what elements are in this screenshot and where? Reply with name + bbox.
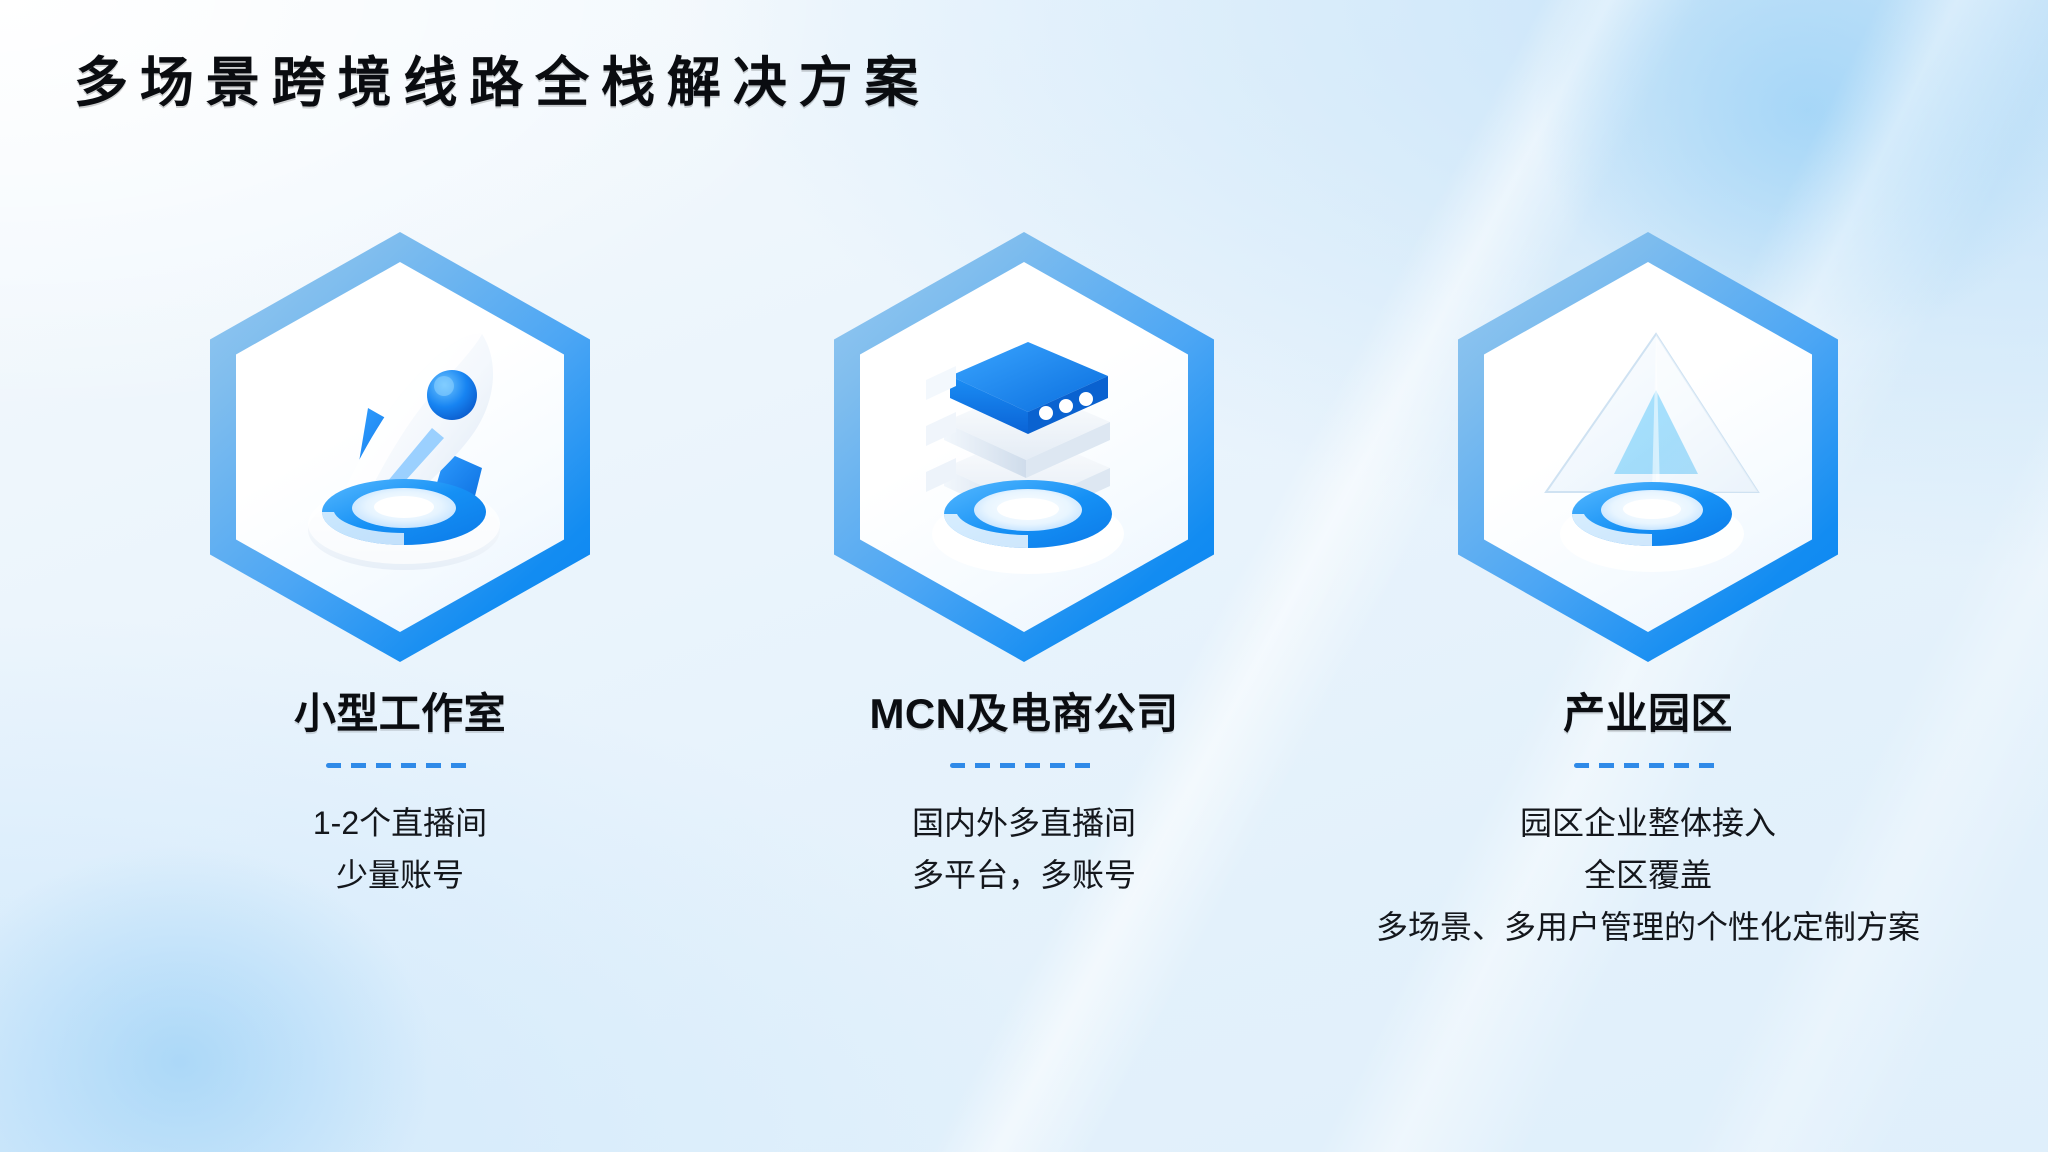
card-title: 产业园区 (1563, 680, 1733, 741)
card-body-line: 多场景、多用户管理的个性化定制方案 (1376, 902, 1920, 954)
rocket-illustration (236, 262, 564, 632)
card-body-line: 国内外多直播间 (912, 798, 1136, 850)
card-body-line: 少量账号 (313, 850, 487, 902)
card-industrial-park[interactable]: 产业园区 园区企业整体接入 全区覆盖 多场景、多用户管理的个性化定制方案 (1378, 232, 1918, 953)
server-stack-hexagon-icon (834, 232, 1214, 662)
card-title: 小型工作室 (294, 680, 506, 741)
rocket-hexagon-icon (210, 232, 590, 662)
card-divider (1574, 763, 1722, 768)
card-body-line: 园区企业整体接入 (1376, 798, 1920, 850)
pyramid-hexagon-icon (1458, 232, 1838, 662)
card-body: 国内外多直播间 多平台，多账号 (912, 798, 1136, 902)
card-body-line: 全区覆盖 (1376, 850, 1920, 902)
card-body-line: 多平台，多账号 (912, 850, 1136, 902)
card-row: 小型工作室 1-2个直播间 少量账号 (0, 232, 2048, 953)
page-title: 多场景跨境线路全栈解决方案 (74, 52, 930, 114)
slide-canvas: 多场景跨境线路全栈解决方案 (0, 0, 2048, 1152)
card-divider (950, 763, 1098, 768)
card-body-line: 1-2个直播间 (313, 798, 487, 850)
card-small-studio[interactable]: 小型工作室 1-2个直播间 少量账号 (130, 232, 670, 953)
card-divider (326, 763, 474, 768)
card-title: MCN及电商公司 (869, 680, 1178, 741)
card-body: 1-2个直播间 少量账号 (313, 798, 487, 902)
pyramid-illustration (1484, 262, 1812, 632)
card-body: 园区企业整体接入 全区覆盖 多场景、多用户管理的个性化定制方案 (1376, 798, 1920, 953)
server-stack-illustration (860, 262, 1188, 632)
card-mcn-ecommerce[interactable]: MCN及电商公司 国内外多直播间 多平台，多账号 (754, 232, 1294, 953)
